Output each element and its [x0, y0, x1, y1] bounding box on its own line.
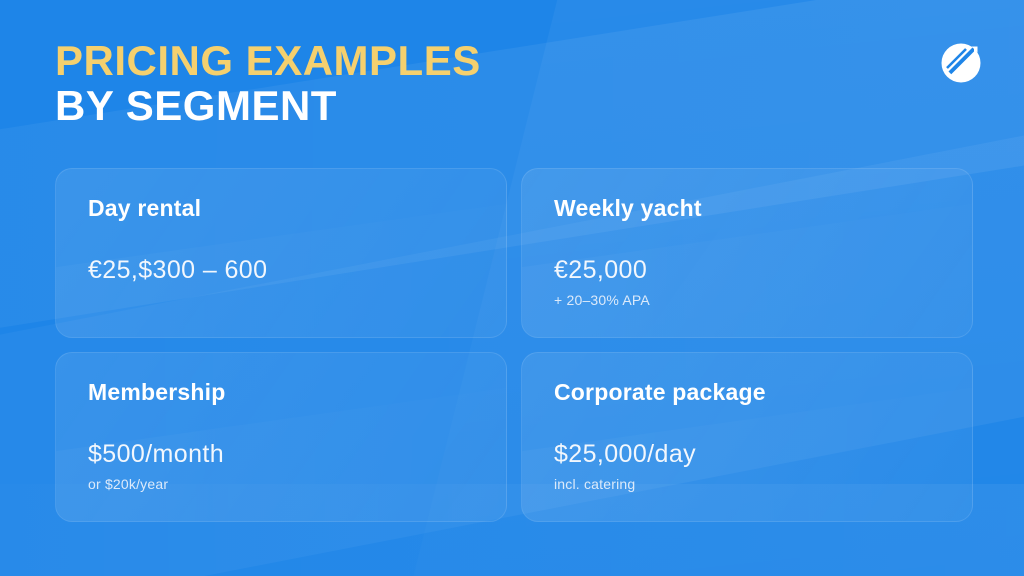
pricing-slide: PRICING EXAMPLES BY SEGMENT Day rental €…	[0, 0, 1024, 576]
card-title: Membership	[88, 379, 474, 407]
card-note: + 20–30% APA	[554, 292, 940, 310]
card-price: $500/month	[88, 439, 474, 469]
card-title: Weekly yacht	[554, 195, 940, 223]
card-title: Day rental	[88, 195, 474, 223]
card-price: €25,000	[554, 255, 940, 285]
card-price: $25,000/day	[554, 439, 940, 469]
pricing-card-weekly-yacht[interactable]: Weekly yacht €25,000 + 20–30% APA	[521, 168, 973, 338]
pricing-card-corporate-package[interactable]: Corporate package $25,000/day incl. cate…	[521, 352, 973, 522]
card-note: or $20k/year	[88, 476, 474, 494]
card-note: incl. catering	[554, 476, 940, 494]
page-title: PRICING EXAMPLES BY SEGMENT	[55, 38, 481, 129]
card-title: Corporate package	[554, 379, 940, 407]
card-price: €25,$300 – 600	[88, 255, 474, 285]
pricing-card-day-rental[interactable]: Day rental €25,$300 – 600	[55, 168, 507, 338]
pricing-card-membership[interactable]: Membership $500/month or $20k/year	[55, 352, 507, 522]
title-line-primary: PRICING EXAMPLES	[55, 38, 481, 83]
title-line-secondary: BY SEGMENT	[55, 83, 481, 128]
brand-logo-icon	[938, 40, 984, 86]
pricing-card-grid: Day rental €25,$300 – 600 Weekly yacht €…	[55, 168, 973, 522]
